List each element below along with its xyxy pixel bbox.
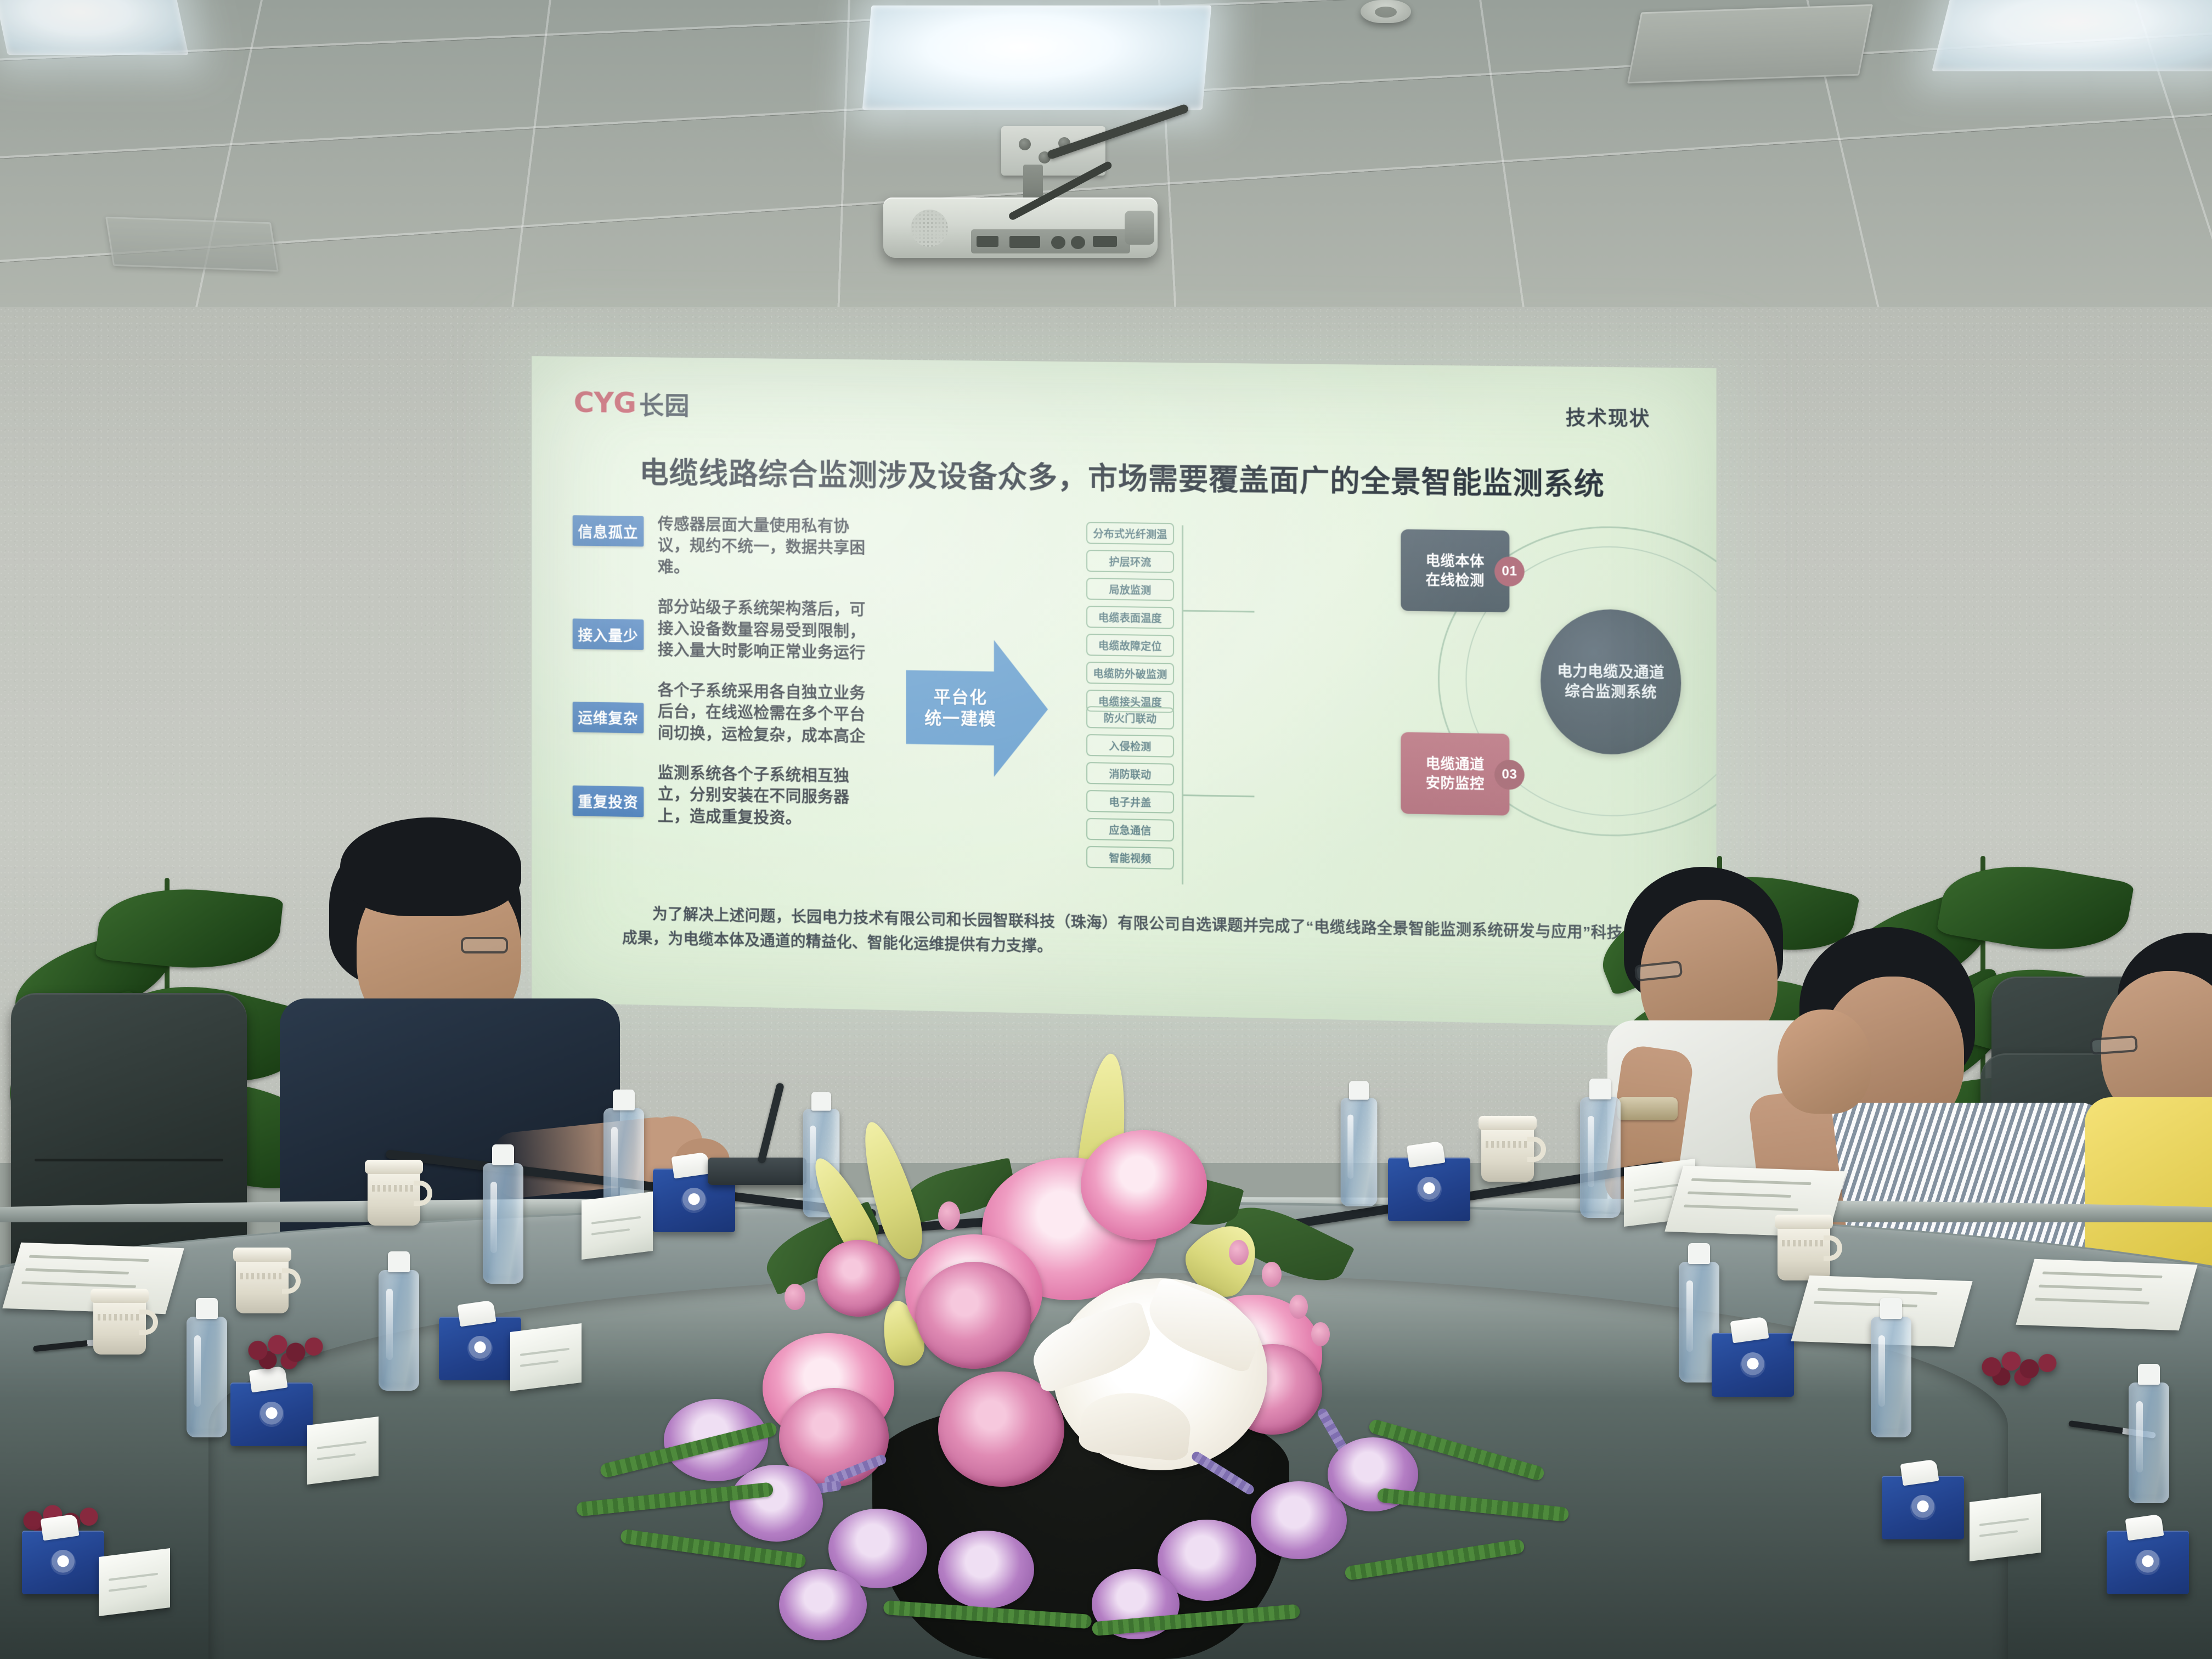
quadrant-number-badge: 01 bbox=[1494, 556, 1525, 586]
ceramic-cup[interactable] bbox=[236, 1256, 289, 1313]
hand-on-head bbox=[1778, 1009, 1871, 1114]
conference-room-photo: CYG 长园 技术现状 电缆线路综合监测涉及设备众多，市场需要覆盖面广的全景智能… bbox=[0, 0, 2212, 1659]
quadrant-line-2: 安防监控 bbox=[1426, 775, 1485, 792]
ceramic-cup[interactable] bbox=[368, 1169, 420, 1226]
tag-item[interactable]: 电缆故障定位 bbox=[1086, 634, 1174, 657]
projector-speaker-grille bbox=[911, 210, 948, 247]
tag-item[interactable]: 分布式光纤测温 bbox=[1086, 522, 1174, 545]
ceiling-light-panel bbox=[0, 0, 189, 55]
connector-rail bbox=[1182, 526, 1183, 726]
tag-item[interactable]: 智能视频 bbox=[1086, 846, 1174, 870]
quadrant-number-badge: 03 bbox=[1494, 760, 1525, 790]
slide-surface: CYG 长园 技术现状 电缆线路综合监测涉及设备众多，市场需要覆盖面广的全景智能… bbox=[532, 356, 1716, 1028]
tag-item[interactable]: 入侵检测 bbox=[1086, 734, 1174, 758]
tissue-box[interactable] bbox=[2107, 1531, 2189, 1594]
ceiling-projector bbox=[883, 132, 1190, 258]
projector-lens bbox=[1125, 211, 1154, 245]
tag-item[interactable]: 消防联动 bbox=[1086, 762, 1174, 786]
purple-orchid bbox=[938, 1531, 1034, 1609]
flower-bud bbox=[1229, 1240, 1249, 1265]
paper-stack[interactable] bbox=[2016, 1259, 2197, 1330]
name-tent-card[interactable] bbox=[99, 1548, 170, 1616]
center-diagram: 电力电缆及通道 综合监测系统 电缆本体 在线检测 01 电缆通道 环境检测 bbox=[1192, 507, 1716, 853]
purple-orchid bbox=[779, 1569, 867, 1640]
floral-centerpiece bbox=[598, 1059, 1564, 1659]
glasses-icon bbox=[461, 937, 508, 953]
logo-chinese-text: 长园 bbox=[639, 386, 690, 422]
name-tent-card[interactable] bbox=[510, 1323, 582, 1391]
tag-item[interactable]: 电缆表面温度 bbox=[1086, 606, 1174, 629]
arrow-line-2: 统一建模 bbox=[924, 708, 996, 729]
quadrant-box-01[interactable]: 电缆本体 在线检测 01 bbox=[1401, 529, 1509, 613]
core-line-1: 电力电缆及通道 bbox=[1557, 663, 1664, 681]
water-bottle[interactable] bbox=[1580, 1097, 1621, 1218]
ceiling-light-panel bbox=[1932, 0, 2212, 71]
tag-item[interactable]: 电子井盖 bbox=[1086, 790, 1174, 814]
purple-orchid bbox=[1251, 1481, 1347, 1559]
purple-orchid bbox=[730, 1465, 823, 1542]
logo-latin-text: CYG bbox=[574, 386, 636, 420]
company-logo: CYG 长园 bbox=[574, 385, 690, 422]
hair-fringe bbox=[340, 817, 521, 916]
glasses-icon bbox=[2090, 1035, 2138, 1055]
flower-bud bbox=[1311, 1322, 1330, 1346]
ceiling-air-vent bbox=[1627, 4, 1873, 84]
ceiling-light-panel bbox=[862, 5, 1212, 110]
slide-section-tag: 技术现状 bbox=[1566, 402, 1650, 432]
tag-item[interactable]: 电缆防外破监测 bbox=[1086, 662, 1174, 685]
tag-item[interactable]: 防火门联动 bbox=[1086, 706, 1174, 730]
pink-lily bbox=[1081, 1130, 1207, 1240]
issue-text: 部分站级子系统架构落后，可接入设备数量容易受到限制，接入量大时影响正常业务运行 bbox=[658, 597, 876, 664]
connector-rail bbox=[1182, 710, 1183, 884]
issue-badge: 信息孤立 bbox=[573, 515, 644, 546]
tissue-box[interactable] bbox=[1712, 1333, 1794, 1397]
tag-column-left-bottom: 防火门联动 入侵检测 消防联动 电子井盖 应急通信 智能视频 bbox=[1086, 706, 1174, 870]
water-bottle[interactable] bbox=[2129, 1383, 2169, 1503]
tag-item[interactable]: 局放监测 bbox=[1086, 578, 1174, 601]
tissue-box[interactable] bbox=[22, 1531, 104, 1594]
issue-text: 各个子系统采用各自独立业务后台，在线巡检需在多个平台间切换，运检复杂，成本高企 bbox=[658, 680, 876, 748]
water-bottle[interactable] bbox=[1871, 1317, 1911, 1437]
issue-list: 信息孤立 传感器层面大量使用私有协议，规约不统一，数据共享困难。 接入量少 部分… bbox=[573, 513, 876, 850]
issue-text: 传感器层面大量使用私有协议，规约不统一，数据共享困难。 bbox=[658, 514, 876, 582]
water-bottle[interactable] bbox=[483, 1163, 523, 1284]
tag-item[interactable]: 应急通信 bbox=[1086, 818, 1174, 842]
smoke-detector-icon bbox=[1361, 0, 1411, 23]
platform-arrow: 平台化 统一建模 bbox=[906, 639, 1048, 778]
ceramic-cup[interactable] bbox=[93, 1297, 146, 1355]
quadrant-line-1: 电缆通道 bbox=[1426, 755, 1485, 772]
arrow-line-1: 平台化 bbox=[934, 687, 988, 707]
issue-text: 监测系统各个子系统相互独立，分别安装在不同服务器上，造成重复投资。 bbox=[658, 763, 876, 832]
flower-bud bbox=[1262, 1262, 1282, 1287]
quadrant-line-2: 在线检测 bbox=[1426, 572, 1485, 589]
grape-cluster bbox=[1975, 1350, 2057, 1388]
flower-bud bbox=[785, 1284, 805, 1310]
tissue-box[interactable] bbox=[230, 1383, 313, 1446]
flower-bud bbox=[1289, 1295, 1308, 1319]
projection-screen: CYG 长园 技术现状 电缆线路综合监测涉及设备众多，市场需要覆盖面广的全景智能… bbox=[532, 356, 1716, 1028]
projector-port-panel bbox=[971, 229, 1130, 253]
issue-badge: 接入量少 bbox=[573, 619, 644, 650]
flower-bud bbox=[938, 1201, 960, 1230]
tag-column-left-top: 分布式光纤测温 护层环流 局放监测 电缆表面温度 电缆故障定位 电缆防外破监测 … bbox=[1086, 522, 1174, 713]
tag-item[interactable]: 护层环流 bbox=[1086, 550, 1174, 573]
slide-title: 电缆线路综合监测涉及设备众多，市场需要覆盖面广的全景智能监测系统 bbox=[532, 447, 1716, 505]
name-tent-card[interactable] bbox=[307, 1417, 379, 1485]
water-bottle[interactable] bbox=[187, 1317, 227, 1437]
tissue-box[interactable] bbox=[439, 1317, 521, 1380]
ceramic-cup[interactable] bbox=[1778, 1223, 1830, 1280]
issue-item: 运维复杂 各个子系统采用各自独立业务后台，在线巡检需在多个平台间切换，运检复杂，… bbox=[573, 679, 876, 748]
tissue-box[interactable] bbox=[1882, 1476, 1964, 1539]
pink-rose bbox=[817, 1240, 900, 1317]
issue-item: 接入量少 部分站级子系统架构落后，可接入设备数量容易受到限制，接入量大时影响正常… bbox=[573, 596, 876, 665]
core-line-2: 综合监测系统 bbox=[1565, 683, 1657, 701]
name-tent-card[interactable] bbox=[1970, 1493, 2041, 1561]
slide-footnote: 为了解决上述问题，长园电力技术有限公司和长园智联科技（珠海）有限公司自选课题并完… bbox=[622, 901, 1622, 970]
fern-frond bbox=[1344, 1538, 1525, 1581]
issue-badge: 重复投资 bbox=[573, 786, 644, 817]
quadrant-box-03[interactable]: 电缆通道 安防监控 03 bbox=[1401, 732, 1509, 815]
fern-frond bbox=[1377, 1488, 1570, 1522]
issue-item: 信息孤立 传感器层面大量使用私有协议，规约不统一，数据共享困难。 bbox=[573, 513, 876, 582]
water-bottle[interactable] bbox=[379, 1270, 419, 1391]
projector-body bbox=[883, 198, 1158, 258]
grape-cluster bbox=[241, 1333, 324, 1372]
ceiling-air-vent bbox=[105, 217, 279, 272]
issue-badge: 运维复杂 bbox=[573, 702, 644, 733]
quadrant-line-1: 电缆本体 bbox=[1426, 552, 1485, 569]
pink-rose bbox=[916, 1262, 1031, 1369]
